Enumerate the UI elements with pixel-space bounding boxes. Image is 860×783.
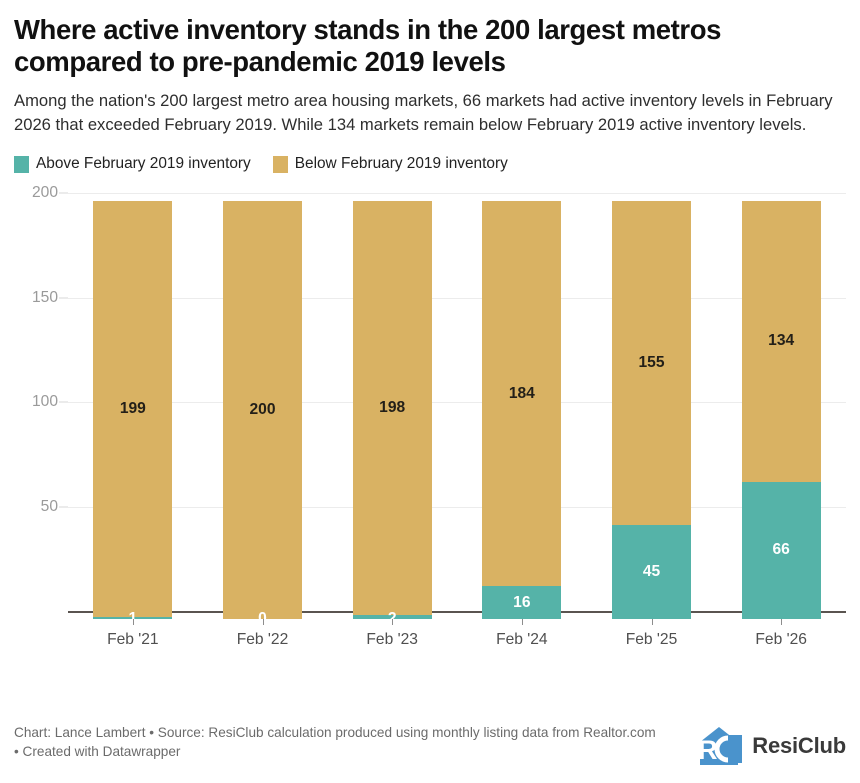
x-axis-labels: Feb '21Feb '22Feb '23Feb '24Feb '25Feb '… (68, 631, 846, 655)
chart-subtitle: Among the nation's 200 largest metro are… (14, 78, 846, 137)
y-axis-tick-mark (59, 193, 68, 194)
color-swatch-icon (14, 156, 29, 173)
y-axis-tick-label: 150 (32, 289, 58, 307)
x-axis-tick-mark (263, 619, 264, 625)
chart-footer: Chart: Lance Lambert • Source: ResiClub … (14, 723, 846, 767)
x-axis-label: Feb '22 (223, 631, 302, 649)
bar-segment-below[interactable] (223, 201, 302, 619)
chart-plot-area: 50100150200 199120001982184161554513466 … (14, 187, 846, 619)
bar-column[interactable]: 2000 (223, 201, 302, 619)
bar-segment-below[interactable] (482, 201, 561, 586)
y-axis-tick-mark (59, 506, 68, 507)
footer-credit: Chart: Lance Lambert • Source: ResiClub … (14, 723, 664, 762)
legend-item[interactable]: Below February 2019 inventory (273, 155, 508, 173)
x-axis-label: Feb '25 (612, 631, 691, 649)
bar-column[interactable]: 1982 (353, 201, 432, 619)
plot-canvas: 50100150200 199120001982184161554513466 (68, 193, 846, 619)
bar-column[interactable]: 15545 (612, 201, 691, 619)
bar-segment-below[interactable] (93, 201, 172, 617)
x-axis-label: Feb '21 (93, 631, 172, 649)
bars-group: 199120001982184161554513466 (68, 193, 846, 619)
x-axis-label: Feb '26 (742, 631, 821, 649)
y-axis-tick-label: 50 (41, 498, 58, 516)
x-axis-tick-mark (392, 619, 393, 625)
brand-block: R ResiClub (697, 723, 846, 767)
y-axis-tick-mark (59, 402, 68, 403)
chart-legend: Above February 2019 inventoryBelow Febru… (14, 137, 846, 173)
x-axis-tick-mark (652, 619, 653, 625)
bar-segment-above[interactable] (482, 586, 561, 619)
resiclub-logo-icon: R (697, 725, 743, 767)
bar-segment-below[interactable] (742, 201, 821, 481)
bar-column[interactable]: 13466 (742, 201, 821, 619)
x-axis-label: Feb '23 (353, 631, 432, 649)
x-axis-tick-mark (133, 619, 134, 625)
bar-segment-below[interactable] (612, 201, 691, 525)
bar-segment-below[interactable] (353, 201, 432, 615)
y-axis-tick-label: 100 (32, 393, 58, 411)
x-axis-tick-mark (522, 619, 523, 625)
chart-page: Where active inventory stands in the 200… (0, 0, 860, 783)
y-axis-tick-mark (59, 297, 68, 298)
legend-item[interactable]: Above February 2019 inventory (14, 155, 251, 173)
y-axis-tick-label: 200 (32, 184, 58, 202)
x-axis-tick-mark (781, 619, 782, 625)
bar-segment-above[interactable] (612, 525, 691, 619)
brand-name: ResiClub (752, 733, 846, 759)
legend-item-label: Above February 2019 inventory (36, 155, 251, 173)
bar-column[interactable]: 18416 (482, 201, 561, 619)
x-axis-label: Feb '24 (482, 631, 561, 649)
bar-segment-above[interactable] (742, 482, 821, 620)
color-swatch-icon (273, 156, 288, 173)
legend-item-label: Below February 2019 inventory (295, 155, 508, 173)
page-title: Where active inventory stands in the 200… (14, 0, 814, 78)
bar-column[interactable]: 1991 (93, 201, 172, 619)
